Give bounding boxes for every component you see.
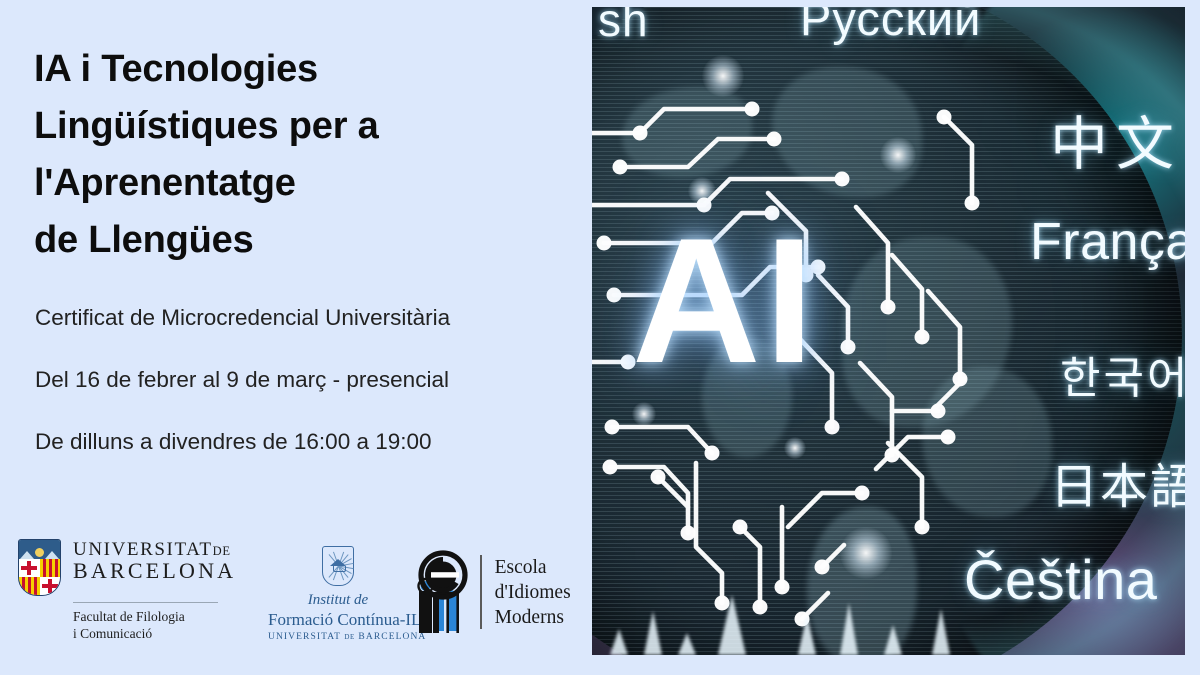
il3-graduation-cap-icon — [322, 546, 354, 586]
language-label-chinese: 中文 — [1050, 97, 1182, 181]
logo-il3: Institut de Formació Contínua-IL3 UNIVER… — [268, 546, 408, 645]
title-line-4: de Llengües — [34, 212, 554, 269]
title-line-1: IA i Tecnologies — [34, 41, 554, 98]
subtitle-schedule: De dilluns a divendres de 16:00 a 19:00 — [35, 427, 575, 457]
language-label-korean: 한국어 — [1060, 342, 1185, 406]
il3-line3: UNIVERSITAT DE BARCELONA — [268, 630, 408, 645]
ub-faculty-name: Facultat de Filologia i Comunicació — [73, 608, 218, 642]
il3-line2: Formació Contínua-IL3 — [268, 609, 408, 630]
il3-line1: Institut de — [268, 591, 408, 609]
language-label-english: sh — [598, 7, 649, 47]
language-label-russian: Русский — [800, 7, 981, 46]
subtitle-block: Certificat de Microcredencial Università… — [35, 303, 575, 457]
language-label-japanese: 日本語 — [1050, 447, 1185, 517]
hero-image-ai-languages: AI sh Русский 中文 Français 한국어 日本語 Češtin… — [592, 7, 1185, 655]
waveform-spike — [678, 633, 696, 655]
subtitle-dates: Del 16 de febrer al 9 de març - presenci… — [35, 365, 575, 395]
ub-divider — [73, 602, 218, 603]
waveform-spike — [610, 629, 628, 655]
waveform-spike — [884, 625, 902, 655]
waveform-spike — [718, 595, 746, 655]
waveform-spike — [798, 615, 816, 655]
ai-headline: AI — [632, 212, 818, 390]
logo-escola-idiomes-moderns: Escola d'Idiomes Moderns — [414, 546, 599, 638]
ub-wordmark-line2: BARCELONA — [73, 560, 236, 583]
logo-universitat-de-barcelona: UNIVERSITATDE BARCELONA Facultat de Filo… — [18, 538, 218, 642]
ub-wordmark-line1: UNIVERSITATDE — [73, 540, 236, 560]
logos-row: UNIVERSITATDE BARCELONA Facultat de Filo… — [18, 536, 578, 646]
page-title: IA i Tecnologies Lingüístiques per a l'A… — [34, 41, 554, 269]
ub-crest-icon — [18, 539, 61, 596]
waveform-spike — [840, 603, 858, 655]
waveform-spike — [644, 611, 662, 655]
eim-divider — [480, 555, 482, 629]
language-label-czech: Čeština — [964, 547, 1157, 612]
language-label-french: Français — [1030, 212, 1185, 272]
eim-wordmark: Escola d'Idiomes Moderns — [495, 555, 571, 630]
title-line-2: Lingüístiques per a — [34, 98, 554, 155]
left-text-panel: IA i Tecnologies Lingüístiques per a l'A… — [0, 0, 592, 675]
poster-canvas: IA i Tecnologies Lingüístiques per a l'A… — [0, 0, 1200, 675]
title-line-3: l'Aprenentatge — [34, 155, 554, 212]
subtitle-certificate: Certificat de Microcredencial Università… — [35, 303, 575, 333]
eim-monogram-icon — [414, 549, 468, 635]
waveform-spike — [932, 609, 950, 655]
